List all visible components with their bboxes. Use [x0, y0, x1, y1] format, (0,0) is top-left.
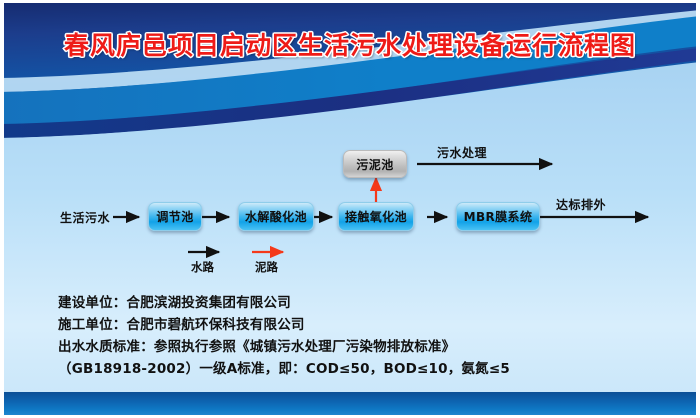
flow-node-wunichi[interactable]: 污泥池	[343, 150, 407, 178]
info-line-standard-code: （GB18918-2002）一级A标准，即：COD≤50，BOD≤10，氨氮≤5	[58, 358, 510, 380]
process-flow-diagram: 生活污水 调节池 水解酸化池 接触氧化池 MBR膜系统 污泥池 污水处理 达标排…	[0, 132, 700, 284]
header-navy-gradient	[0, 0, 700, 132]
flow-output-label-discharge: 达标排外	[556, 196, 606, 213]
flow-node-label: MBR膜系统	[464, 208, 533, 225]
flow-node-label: 调节池	[156, 208, 193, 225]
flow-node-label: 接触氧化池	[345, 208, 407, 225]
page-title: 春风庐邑项目启动区生活污水处理设备运行流程图	[64, 26, 636, 62]
poster-title-wrap: 春风庐邑项目启动区生活污水处理设备运行流程图	[0, 26, 700, 62]
poster-board: 春风庐邑项目启动区生活污水处理设备运行流程图	[0, 0, 700, 418]
info-line-effluent-standard: 出水水质标准：参照执行参照《城镇污水处理厂污染物排放标准》	[58, 336, 510, 358]
footer-bar	[0, 392, 700, 418]
info-line-contractor-unit: 施工单位：合肥市碧航环保科技有限公司	[58, 314, 510, 336]
info-line-construction-unit: 建设单位：合肥滨湖投资集团有限公司	[58, 292, 510, 314]
flow-node-jiechuyanghuachi[interactable]: 接触氧化池	[338, 202, 414, 231]
flow-start-label: 生活污水	[60, 209, 110, 226]
flow-node-label: 水解酸化池	[245, 208, 307, 225]
legend-label-water-path: 水路	[191, 259, 214, 275]
flow-node-shuijiesuanhuachi[interactable]: 水解酸化池	[238, 202, 314, 231]
flow-branch-label-wastewater-treatment: 污水处理	[437, 144, 487, 161]
flow-node-label: 污泥池	[356, 156, 393, 173]
header-banner	[0, 0, 700, 132]
info-block: 建设单位：合肥滨湖投资集团有限公司 施工单位：合肥市碧航环保科技有限公司 出水水…	[58, 292, 510, 380]
flow-node-tiaojiechi[interactable]: 调节池	[148, 202, 202, 231]
legend-label-sludge-path: 泥路	[255, 259, 278, 275]
flow-node-mbr-system[interactable]: MBR膜系统	[456, 202, 540, 231]
